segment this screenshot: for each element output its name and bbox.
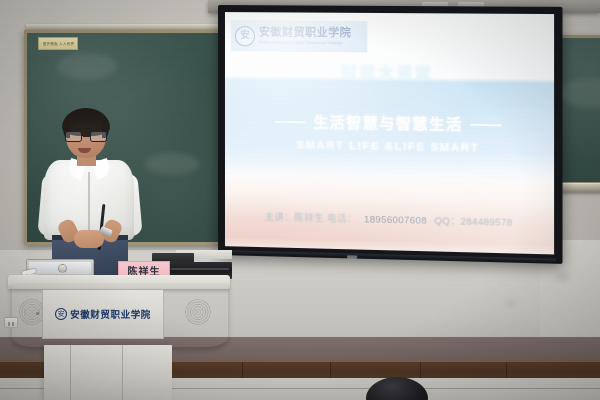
chalkboard-care-label: 爱护黑板 人人有责	[38, 37, 78, 50]
glasses-icon	[64, 131, 108, 142]
podium-pedestal	[44, 345, 172, 400]
screen-pull-tab	[347, 255, 357, 258]
glasses-lens-left	[65, 131, 82, 142]
glasses-bridge	[83, 135, 90, 137]
podium-institution-name: 安徽财贸职业学院	[70, 307, 151, 321]
photo-scene: 爱护黑板 人人有责 安 安徽财贸职业学院 Anhui Finance & Tra…	[0, 0, 600, 400]
podium-emblem-icon: 安	[55, 308, 67, 320]
pedestal-seam	[70, 345, 71, 400]
laptop-hinge-knob	[58, 264, 67, 273]
screen-surface: 安 安徽财贸职业学院 Anhui Finance & Trade Vocatio…	[225, 12, 554, 254]
institution-logo-text: 安徽财贸职业学院 Anhui Finance & Trade Vocationa…	[259, 28, 351, 45]
presenter	[38, 112, 142, 282]
slide-headline: 生活智慧与智慧生活	[313, 111, 462, 135]
chalk-scuff	[57, 53, 117, 79]
slide-speaker-label: 主讲：陈祥生 电话：	[265, 209, 357, 225]
wall-smudge	[556, 272, 570, 282]
slide-qq: QQ：284489578	[434, 213, 512, 229]
podium-indicator-dot	[36, 312, 39, 315]
chalk-scuff	[145, 153, 199, 175]
institution-name-cn: 安徽财贸职业学院	[259, 28, 351, 40]
slide-institution-logo: 安 安徽财贸职业学院 Anhui Finance & Trade Vocatio…	[231, 20, 367, 52]
slide-series-title: 财贸大讲堂	[225, 60, 554, 85]
institution-emblem-icon: 安	[235, 26, 255, 46]
wall-power-outlet	[4, 317, 18, 328]
chalkboard-care-label-text: 爱护黑板 人人有责	[42, 41, 73, 46]
institution-name-en: Anhui Finance & Trade Vocational College	[259, 40, 351, 45]
podium-front-panel: 安 安徽财贸职业学院	[42, 289, 164, 339]
wall-smudge	[506, 300, 515, 307]
shirt-placket	[88, 172, 90, 238]
projection-screen: 安 安徽财贸职业学院 Anhui Finance & Trade Vocatio…	[218, 5, 563, 264]
glasses-lens-right	[90, 131, 107, 142]
headline-rule-left	[275, 120, 305, 122]
pedestal-seam	[122, 345, 123, 400]
chalk-scuff	[559, 78, 600, 108]
podium-speaker-grille-right	[184, 298, 212, 326]
slide-phone: 18956007608	[364, 214, 427, 227]
headline-rule-right	[471, 123, 502, 126]
